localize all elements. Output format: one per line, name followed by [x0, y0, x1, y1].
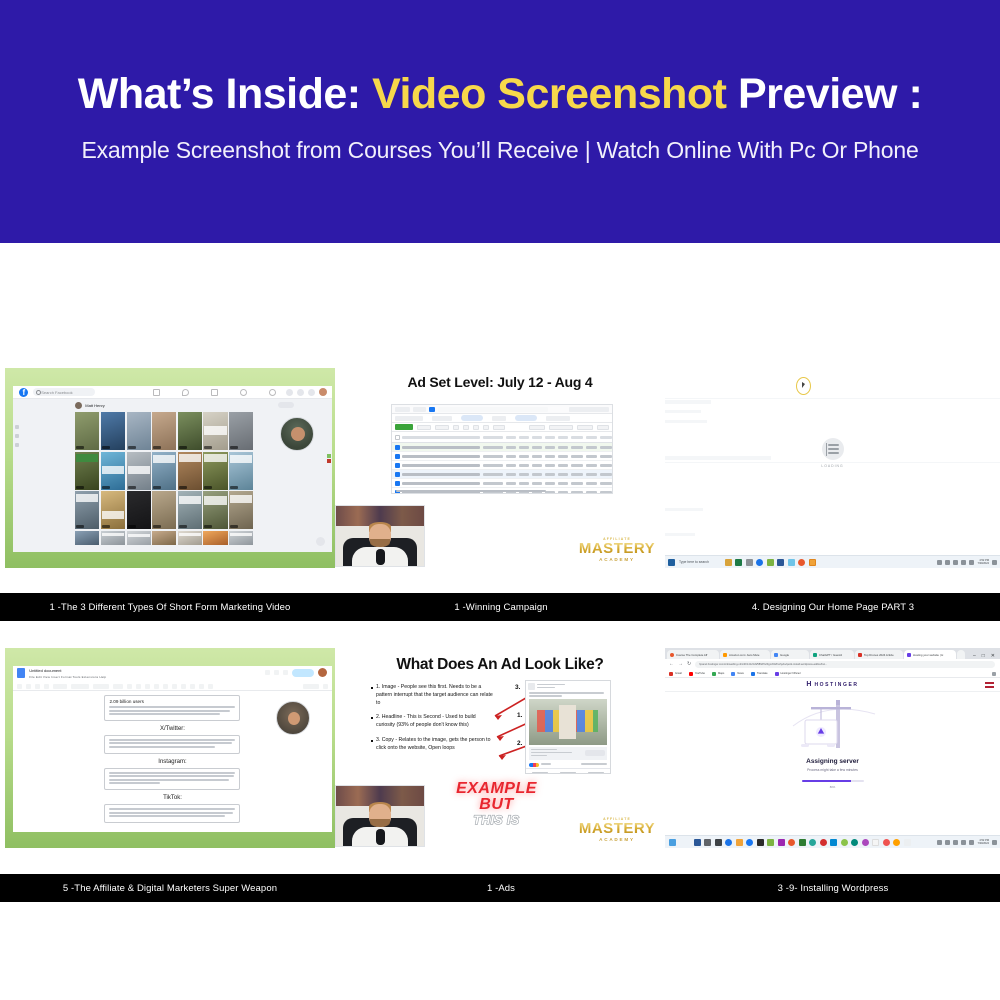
tab-campaigns[interactable] [432, 416, 452, 421]
facebook-topbar: Search Facebook [13, 386, 331, 399]
ad-page-meta [537, 684, 608, 690]
ab-test-button[interactable] [463, 425, 469, 430]
row-checkbox[interactable] [395, 445, 400, 450]
browser-tab[interactable]: Amazon.com: Auto Mute [720, 650, 770, 659]
app-icon[interactable] [862, 839, 869, 846]
page-title-highlight: Video Screenshot [372, 70, 726, 118]
cell-frequency [532, 482, 542, 485]
right-rail [327, 454, 331, 468]
messenger-icon[interactable] [297, 389, 304, 396]
mastery-academy-logo: AFFILIATE MASTERY ACADEMY [573, 534, 661, 564]
start-button-icon[interactable] [669, 839, 676, 846]
tab-ads-for-ad-set[interactable] [546, 416, 570, 421]
reel-thumbnail[interactable] [152, 452, 176, 490]
marketplace-icon[interactable] [211, 389, 218, 396]
cell-value [600, 473, 612, 476]
cell-spent [571, 473, 583, 476]
rail-icon[interactable] [15, 443, 19, 447]
app-icon[interactable] [736, 839, 743, 846]
search-field[interactable] [438, 407, 548, 412]
new-tab-button[interactable] [957, 650, 965, 659]
chrome-icon[interactable] [756, 559, 763, 566]
view-setup-button[interactable] [493, 425, 505, 430]
table-row[interactable] [392, 452, 612, 461]
app-icon[interactable] [757, 839, 764, 846]
cell-reach [519, 482, 529, 485]
like-button[interactable] [526, 769, 554, 774]
google-docs-icon [17, 668, 25, 678]
cell-ad-set-name [402, 473, 480, 476]
volume-icon[interactable] [961, 840, 966, 845]
bookmark-label: Gmail [675, 672, 682, 675]
doc-card-instagram [104, 768, 240, 790]
cursor-highlight-icon [796, 377, 811, 395]
battery-icon[interactable] [969, 840, 974, 845]
ads-filter-bar [392, 405, 612, 414]
ads-toggle[interactable] [515, 415, 537, 421]
ad-headline-block [531, 749, 585, 758]
caption-home-page-loading: 4. Designing Our Home Page PART 3 [668, 593, 998, 621]
taskbar-clock[interactable]: 4:52 PM 7/30/2024 [977, 559, 989, 565]
taskbar-clock[interactable]: 4:52 PM 7/30/2024 [977, 839, 989, 845]
onedrive-icon[interactable] [945, 840, 950, 845]
select-all-checkbox[interactable] [395, 435, 400, 440]
docs-menubar[interactable]: File Edit View Insert Format Tools Exten… [29, 675, 106, 679]
tab-ad-sets[interactable] [492, 416, 506, 421]
notifications-icon[interactable] [308, 389, 315, 396]
column-ad-set-name[interactable] [402, 436, 480, 439]
video-frame-content: Search Facebook [13, 386, 331, 552]
bookmark-label: Hostinger hPanel [781, 672, 801, 675]
favicon-icon [907, 653, 911, 657]
text-color-icon[interactable] [154, 684, 159, 689]
cell-budget [558, 464, 568, 467]
task-view-icon[interactable] [715, 839, 722, 846]
facebook-icon[interactable] [746, 839, 753, 846]
reel-thumbnail[interactable] [178, 531, 202, 545]
video-icon[interactable] [182, 389, 189, 396]
cell-ad-set-name [402, 482, 480, 485]
profile-chip[interactable]: Matt Henry [75, 402, 105, 409]
slide-surface: What Does An Ad Look Like? 1. Image - Pe… [335, 648, 665, 848]
browser-tab[interactable]: Google [771, 650, 809, 659]
style-selector[interactable] [71, 684, 89, 689]
reel-thumbnail[interactable] [127, 412, 151, 450]
bullet-icon [371, 687, 373, 689]
breakdown-selector[interactable] [549, 425, 573, 430]
ad-creative-image [529, 699, 607, 745]
cell-value [600, 464, 612, 467]
reactions-icon [529, 763, 539, 767]
docs-header-actions [265, 668, 327, 677]
thumbnail-hostinger-installing-wordpress[interactable]: Course The Complete Aff Amazon.com: Auto… [665, 648, 1000, 848]
tray-icon[interactable] [937, 560, 942, 565]
list-icon [822, 438, 844, 460]
reel-thumbnail[interactable] [101, 491, 125, 529]
thumbnail-ad-set-level[interactable]: Ad Set Level: July 12 - Aug 4 [335, 368, 665, 568]
rail-icon[interactable] [15, 425, 19, 429]
browser-tab[interactable]: ChatGPT / Guest4 [810, 650, 854, 659]
reel-thumbnail[interactable] [101, 452, 125, 490]
column-purchase-value[interactable] [600, 436, 612, 439]
reel-thumbnail[interactable] [152, 531, 176, 545]
reports-selector[interactable] [577, 425, 593, 430]
tab-label: ChatGPT / Guest4 [819, 653, 842, 657]
ad-header [526, 681, 610, 692]
battery-icon[interactable] [969, 560, 974, 565]
reel-thumbnail[interactable] [229, 452, 253, 490]
ghost-divider [665, 398, 1000, 399]
app-icon[interactable] [851, 839, 858, 846]
facebook-logo-icon [19, 388, 28, 397]
cell-purchases [586, 482, 598, 485]
hide-menus-icon[interactable] [323, 684, 328, 689]
history-icon[interactable] [265, 670, 270, 675]
table-row[interactable] [392, 470, 612, 479]
start-button-icon[interactable] [668, 559, 675, 566]
app-icon[interactable] [841, 839, 848, 846]
app-icon[interactable] [767, 839, 774, 846]
thumbnail-row-1: Search Facebook [0, 368, 1000, 620]
menu-grid-icon[interactable] [286, 389, 293, 396]
reel-thumbnail[interactable] [75, 531, 99, 545]
bookmark-item[interactable]: Translate [751, 672, 768, 676]
cell-reach [519, 464, 529, 467]
ad-copy [526, 692, 610, 697]
column-purchases[interactable] [586, 436, 598, 439]
share-button[interactable] [582, 769, 610, 774]
cell-delivery [483, 446, 503, 449]
document-title[interactable]: Untitled document [29, 668, 106, 673]
app-icon[interactable] [777, 559, 784, 566]
taskbar-pinned-apps [725, 559, 816, 566]
table-row[interactable] [392, 461, 612, 470]
app-icon[interactable] [725, 559, 732, 566]
whatsapp-icon[interactable] [809, 839, 816, 846]
row-checkbox[interactable] [395, 481, 400, 486]
browser-tab-active[interactable]: Hosting your website | H [904, 650, 956, 659]
tab-account-overview[interactable] [395, 416, 423, 421]
list-icon[interactable] [208, 684, 213, 689]
network-icon[interactable] [953, 840, 958, 845]
tray-expand-icon[interactable] [937, 840, 942, 845]
app-icon[interactable] [820, 839, 827, 846]
desktop-surface: LOADING Type here to search [665, 368, 1000, 568]
cell-results [506, 446, 516, 449]
ad-link-footer [529, 747, 607, 760]
cell-frequency [532, 464, 542, 467]
groups-icon[interactable] [240, 389, 247, 396]
more-button[interactable] [453, 425, 459, 430]
spellcheck-icon[interactable] [44, 684, 49, 689]
comment-button[interactable] [554, 769, 582, 774]
bullet-text: 3. Copy - Relates to the image, gets the… [376, 737, 496, 753]
microphone-icon [376, 829, 386, 845]
app-icon[interactable] [746, 559, 753, 566]
browser-tab[interactable]: Course The Complete Aff [667, 650, 719, 659]
page-title-part2: Preview : [727, 70, 923, 118]
thumbnail-google-docs-stats[interactable]: Untitled document File Edit View Insert … [5, 648, 335, 848]
webcam-overlay-avatar [280, 417, 314, 451]
reel-thumbnail[interactable] [101, 412, 125, 450]
thumbnail-facebook-reels[interactable]: Search Facebook [5, 368, 335, 568]
address-bar[interactable]: hpanel.hostinger.com/onboarding-v2/c4F/1… [695, 661, 995, 668]
highlight-icon[interactable] [163, 684, 168, 689]
reel-thumbnail[interactable] [229, 531, 253, 545]
cell-ad-set-name [402, 455, 480, 458]
arrow-label-3: 3. [515, 684, 520, 691]
comment-icon[interactable] [274, 670, 279, 675]
reload-icon[interactable]: ↻ [687, 662, 691, 667]
app-icon[interactable] [788, 559, 795, 566]
app-icon[interactable] [788, 839, 795, 846]
ads-action-bar [392, 423, 612, 432]
slide-title: What Does An Ad Look Like? [335, 656, 665, 674]
home-icon[interactable] [153, 389, 160, 396]
app-icon[interactable] [694, 839, 701, 846]
browser-omnibox-row: ← → ↻ hpanel.hostinger.com/onboarding-v2… [665, 659, 1000, 670]
back-icon[interactable]: ← [669, 662, 674, 667]
more-options-button[interactable] [278, 402, 294, 408]
reel-thumbnail[interactable] [178, 491, 202, 529]
bookmark-item[interactable]: YouTube [689, 672, 705, 676]
more-menu[interactable] [597, 425, 609, 430]
chrome-window: Course The Complete Aff Amazon.com: Auto… [665, 648, 1000, 848]
webcam-overlay [335, 505, 425, 567]
reel-thumbnail[interactable] [75, 452, 99, 490]
share-button[interactable] [292, 669, 314, 677]
reel-thumbnail[interactable] [203, 491, 227, 529]
editing-mode-selector[interactable] [303, 684, 319, 689]
bookmark-label: Translate [757, 672, 768, 675]
underline-icon[interactable] [145, 684, 150, 689]
rail-indicator [327, 454, 331, 458]
excel-icon[interactable] [735, 559, 742, 566]
account-filter[interactable] [395, 407, 410, 412]
reel-thumbnail[interactable] [152, 412, 176, 450]
all-bookmarks-button[interactable] [992, 672, 996, 676]
slide-title: Ad Set Level: July 12 - Aug 4 [335, 374, 665, 390]
font-selector[interactable] [93, 684, 109, 689]
create-button[interactable] [395, 424, 413, 430]
avatar[interactable] [318, 668, 327, 677]
add-filter-button[interactable] [429, 407, 435, 412]
app-icon[interactable] [830, 839, 837, 846]
section-heading: Instagram: [13, 759, 331, 765]
rules-button[interactable] [473, 425, 479, 430]
horizontal-scrollbar[interactable] [396, 490, 546, 493]
favicon-icon [723, 653, 727, 657]
network-icon[interactable] [953, 560, 958, 565]
column-amount-spent[interactable] [571, 436, 583, 439]
microphone-icon [376, 549, 386, 565]
page-title-part1: What’s Inside: [78, 70, 372, 118]
zoom-selector[interactable] [53, 684, 67, 689]
chrome-icon[interactable] [725, 839, 732, 846]
reel-thumbnail[interactable] [203, 412, 227, 450]
reel-thumbnail[interactable] [101, 531, 125, 545]
browser-tab[interactable]: Top Drones 2024 Article [855, 650, 903, 659]
cell-budget [558, 491, 568, 494]
bold-icon[interactable] [127, 684, 132, 689]
reel-thumbnail[interactable] [127, 452, 151, 490]
favicon-icon [858, 653, 862, 657]
volume-icon[interactable] [961, 560, 966, 565]
logo-sub-text: ACADEMY [599, 557, 635, 562]
cell-purchases [586, 473, 598, 476]
bookmark-item[interactable]: Hostinger hPanel [775, 672, 801, 676]
date-filter[interactable] [413, 407, 426, 412]
progress-percent: 80% [665, 785, 1000, 789]
reel-thumbnail[interactable] [203, 531, 227, 545]
app-icon[interactable] [893, 839, 900, 846]
column-results[interactable] [506, 436, 516, 439]
reel-thumbnail[interactable] [152, 491, 176, 529]
cell-cost [545, 464, 555, 467]
cell-reach [519, 455, 529, 458]
reel-thumbnail[interactable] [75, 491, 99, 529]
rail-icon[interactable] [15, 434, 19, 438]
column-reach[interactable] [519, 436, 529, 439]
bullet-icon [371, 740, 373, 742]
search-input[interactable]: Search Facebook [33, 388, 95, 396]
cell-frequency [532, 446, 542, 449]
cell-budget [558, 455, 568, 458]
cell-ad-set-name [402, 464, 480, 467]
caption-ad-set-level: 1 -Winning Campaign [338, 593, 664, 621]
column-cost-per-result[interactable] [545, 436, 555, 439]
bookmark-item[interactable]: Maps [712, 672, 724, 676]
hostinger-mark-icon: H [806, 681, 811, 688]
meet-icon[interactable] [283, 670, 288, 675]
video-frame-content: Untitled document File Edit View Insert … [13, 666, 331, 832]
slide-bullet-list: 1. Image - People see this first. Needs … [371, 684, 496, 760]
column-budget[interactable] [558, 436, 568, 439]
search-icon[interactable] [704, 839, 711, 846]
image-icon[interactable] [181, 684, 186, 689]
cell-cost [545, 473, 555, 476]
ghost-placeholder [665, 533, 695, 536]
app-icon[interactable] [883, 839, 890, 846]
align-icon[interactable] [190, 684, 195, 689]
app-icon[interactable] [799, 839, 806, 846]
cell-purchases [586, 491, 598, 494]
column-delivery[interactable] [483, 436, 503, 439]
avatar [75, 402, 82, 409]
example-facebook-ad [525, 680, 611, 774]
avatar[interactable] [319, 388, 327, 396]
cell-purchases [586, 464, 598, 467]
arrow-label-2: 2. [517, 740, 522, 747]
docs-canvas[interactable]: 2.09 billion users X/Twitter: Instagram: [13, 691, 331, 832]
print-icon[interactable] [35, 684, 40, 689]
ad-action-bar [526, 768, 610, 774]
table-header-row [392, 432, 612, 443]
language-flag-icon[interactable] [985, 682, 994, 688]
cell-purchases [586, 455, 598, 458]
reel-thumbnail[interactable] [178, 412, 202, 450]
export-button[interactable] [483, 425, 489, 430]
row-checkbox[interactable] [395, 454, 400, 459]
mastery-academy-logo: AFFILIATE MASTERY ACADEMY [573, 814, 661, 844]
bookmark-item[interactable]: Gmail [669, 672, 682, 676]
forward-icon[interactable]: → [678, 662, 683, 667]
scroll-top-button[interactable] [316, 537, 325, 546]
facebook-account-controls [286, 388, 327, 396]
reel-thumbnail[interactable] [178, 452, 202, 490]
app-icon[interactable] [904, 839, 911, 846]
reel-thumbnail[interactable] [229, 412, 253, 450]
status-title: Assigning server [665, 758, 1000, 765]
reel-thumbnail[interactable] [127, 491, 151, 529]
facebook-nav-icons [153, 389, 276, 396]
reel-thumbnail[interactable] [229, 491, 253, 529]
caption-ads: 1 -Ads [338, 874, 664, 902]
date-range-selector[interactable] [569, 407, 609, 412]
table-row[interactable] [392, 443, 612, 452]
reel-thumbnail[interactable] [203, 452, 227, 490]
section-heading: TikTok: [13, 795, 331, 801]
cell-value [600, 482, 612, 485]
edit-button[interactable] [435, 425, 449, 430]
row-checkbox[interactable] [395, 463, 400, 468]
tab-label: Course The Complete Aff [676, 653, 707, 657]
font-size-stepper[interactable] [113, 684, 123, 689]
crane-illustration-icon [787, 698, 879, 754]
app-icon[interactable] [767, 559, 774, 566]
progress-bar [802, 780, 864, 782]
caption-installing-wordpress: 3 -9- Installing Wordpress [668, 874, 998, 902]
reel-thumbnail[interactable] [127, 531, 151, 545]
app-icon[interactable] [872, 839, 879, 846]
cell-cost [545, 455, 555, 458]
link-icon[interactable] [172, 684, 177, 689]
bookmark-item[interactable]: News [731, 672, 744, 676]
hostinger-logo: H HOSTINGER [806, 681, 858, 688]
cell-purchases [586, 446, 598, 449]
row-checkbox[interactable] [395, 472, 400, 477]
app-icon[interactable] [778, 839, 785, 846]
columns-selector[interactable] [529, 425, 545, 430]
taskbar-search-input[interactable]: Type here to search [679, 560, 709, 564]
adsets-toggle[interactable] [461, 415, 483, 421]
tray-expand-icon[interactable] [945, 560, 950, 565]
thumbnail-what-does-an-ad-look-like[interactable]: What Does An Ad Look Like? 1. Image - Pe… [335, 648, 665, 848]
italic-icon[interactable] [136, 684, 141, 689]
notifications-icon[interactable] [992, 560, 997, 565]
notifications-icon[interactable] [992, 840, 997, 845]
undo-icon[interactable] [17, 684, 22, 689]
page-avatar [528, 683, 535, 690]
column-frequency[interactable] [532, 436, 542, 439]
duplicate-button[interactable] [417, 425, 431, 430]
caption-bar-row-1: 1 -The 3 Different Types Of Short Form M… [0, 593, 1000, 621]
thumbnail-home-page-loading[interactable]: LOADING Type here to search [665, 368, 1000, 568]
learn-more-button[interactable] [585, 750, 605, 756]
page-subtitle: Example Screenshot from Courses You’ll R… [81, 137, 918, 164]
logo-sub-text: ACADEMY [599, 837, 635, 842]
reel-thumbnail[interactable] [75, 412, 99, 450]
bullet-text: 1. Image - People see this first. Needs … [376, 684, 496, 707]
line-spacing-icon[interactable] [199, 684, 204, 689]
table-row[interactable] [392, 479, 612, 488]
docs-toolbar [13, 682, 331, 691]
docs-title-block: Untitled document File Edit View Insert … [29, 668, 106, 679]
redo-icon[interactable] [26, 684, 31, 689]
gaming-icon[interactable] [269, 389, 276, 396]
app-icon[interactable] [798, 559, 805, 566]
active-app-icon[interactable] [809, 559, 816, 566]
